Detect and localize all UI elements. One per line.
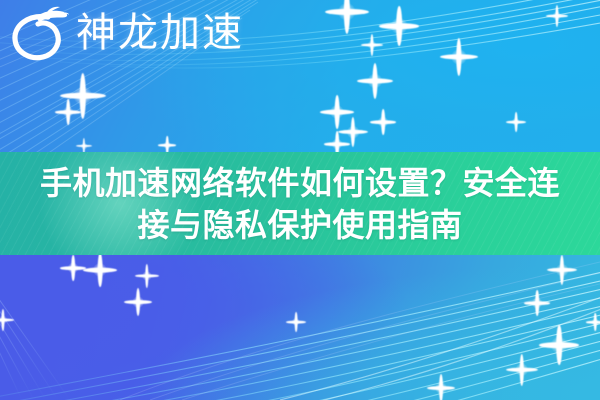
title-banner-band: 手机加速网络软件如何设置？安全连接与隐私保护使用指南 xyxy=(0,152,600,255)
banner-title-line-1: 手机加速网络软件如何设置？安全连 xyxy=(40,165,560,201)
dragon-ring-icon xyxy=(8,4,70,62)
brand-name-label: 神龙加速 xyxy=(76,13,244,53)
banner-title: 手机加速网络软件如何设置？安全连接与隐私保护使用指南 xyxy=(20,162,580,246)
background-lower-blue xyxy=(0,255,600,400)
promo-banner-image: 神龙加速 手机加速网络软件如何设置？安全连接与隐私保护使用指南 xyxy=(0,0,600,400)
brand-logo[interactable]: 神龙加速 xyxy=(8,4,244,62)
banner-title-line-2: 接与隐私保护使用指南 xyxy=(137,207,462,243)
